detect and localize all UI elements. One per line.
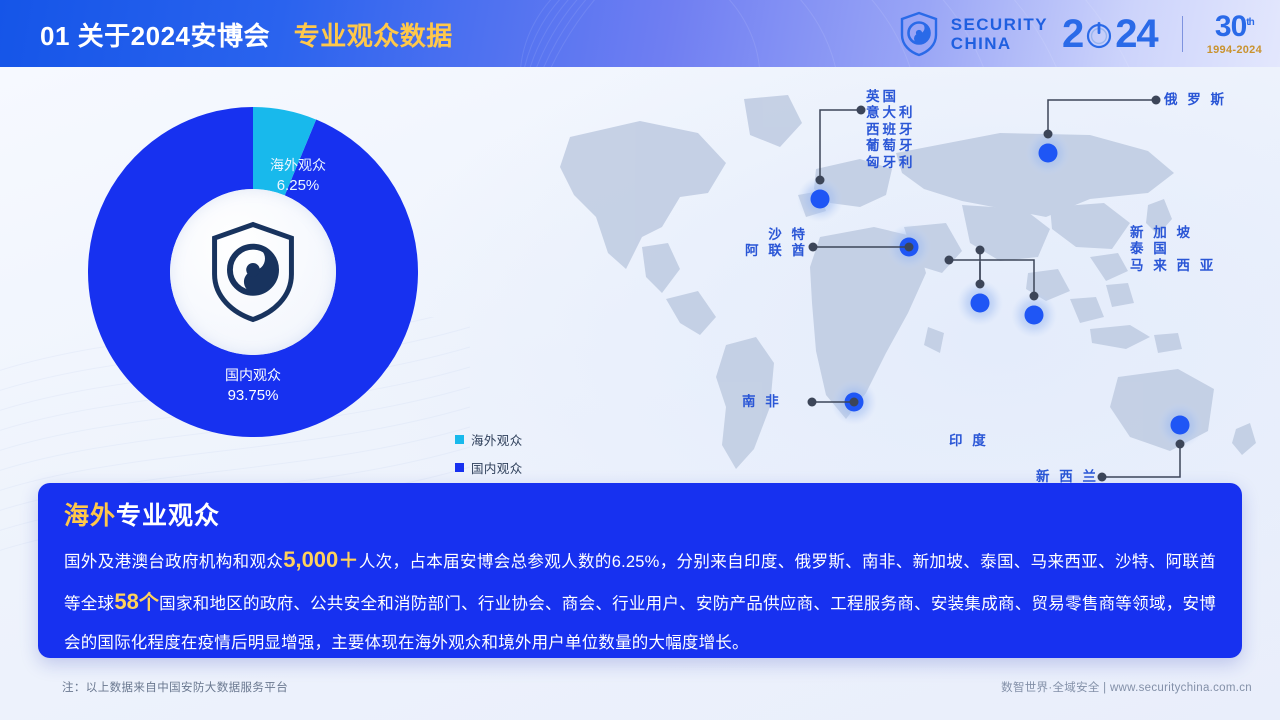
map-label-south-africa: 南 非: [742, 393, 782, 411]
map-label-sea-line-1: 新 加 坡: [1130, 225, 1216, 241]
legend-label-overseas: 海外观众: [471, 430, 523, 449]
brand-divider: [1182, 16, 1183, 52]
map-label-sea: 新 加 坡 泰 国 马 来 西 亚: [1130, 225, 1216, 274]
overseas-audience-panel: 海外专业观众 国外及港澳台政府机构和观众5,000＋人次，占本届安博会总参观人数…: [38, 483, 1242, 658]
panel-title-highlight: 海外: [64, 502, 116, 530]
panel-body-text: 国外及港澳台政府机构和观众5,000＋人次，占本届安博会总参观人数的6.25%，…: [64, 540, 1216, 663]
anniversary-sup: th: [1246, 17, 1253, 28]
donut-label-domestic-value: 93.75%: [173, 385, 333, 407]
brand-year-prefix: 2: [1062, 12, 1083, 57]
donut-center-logo: [170, 189, 336, 355]
world-map-panel: 英国 意大利 西班牙 葡萄牙 匈牙利 俄 罗 斯 沙 特 阿 联 酋 新 加 坡…: [530, 77, 1275, 547]
audience-donut-chart: 海外观众 6.25% 国内观众 93.75%: [88, 107, 418, 437]
map-label-india: 印 度: [949, 432, 989, 450]
page-title: 01 关于2024安博会 专业观众数据: [40, 16, 453, 53]
map-label-europe-line-5: 匈牙利: [866, 155, 916, 171]
donut-label-overseas: 海外观众 6.25%: [218, 155, 378, 197]
brand-line-1: SECURITY: [951, 16, 1048, 33]
brand-year: 2 24: [1062, 12, 1158, 57]
map-label-russia: 俄 罗 斯: [1164, 91, 1227, 109]
map-label-middle-east-line-1: 沙 特: [698, 227, 808, 243]
map-label-europe-line-3: 西班牙: [866, 122, 916, 138]
map-label-europe: 英国 意大利 西班牙 葡萄牙 匈牙利: [866, 89, 916, 171]
donut-label-domestic-name: 国内观众: [173, 365, 333, 385]
map-label-sea-line-2: 泰 国: [1130, 241, 1216, 257]
anniversary-badge: 30th 1994-2024: [1207, 12, 1262, 56]
anniversary-number: 30th: [1215, 12, 1254, 42]
security-shield-logo-icon: [207, 220, 299, 324]
footer-note: 注：以上数据来自中国安防大数据服务平台: [62, 679, 288, 695]
legend-swatch-domestic: [455, 463, 464, 472]
panel-stat-countries: 58: [114, 589, 138, 614]
section-index: 01: [40, 21, 70, 51]
panel-title-rest: 专业观众: [116, 502, 220, 530]
anniversary-range: 1994-2024: [1207, 45, 1262, 56]
map-label-europe-line-2: 意大利: [866, 105, 916, 121]
brand-year-suffix: 24: [1115, 12, 1158, 57]
panel-stat-countries-suffix: 个: [139, 592, 159, 614]
legend-label-domestic: 国内观众: [471, 458, 523, 477]
brand-lockup: SECURITY CHINA 2 24 30th 1994-2024: [899, 7, 1262, 61]
brand-line-2: CHINA: [951, 35, 1048, 52]
panel-body-part-3: 国家和地区的政府、公共安全和消防部门、行业协会、商会、行业用户、安防产品供应商、…: [64, 595, 1216, 652]
legend-item-domestic: 国内观众: [455, 458, 523, 477]
donut-label-overseas-name: 海外观众: [218, 155, 378, 175]
anniversary-value: 30: [1215, 10, 1246, 43]
section-title: 关于2024安博会: [78, 21, 270, 51]
map-label-middle-east-line-2: 阿 联 酋: [698, 243, 808, 259]
map-label-europe-line-1: 英国: [866, 89, 916, 105]
panel-body-part-1: 国外及港澳台政府机构和观众: [64, 553, 283, 571]
legend-swatch-overseas: [455, 435, 464, 444]
panel-stat-visitors: 5,000: [283, 547, 338, 572]
power-ring-icon: [1084, 17, 1114, 51]
map-label-sea-line-3: 马 来 西 亚: [1130, 258, 1216, 274]
donut-label-domestic: 国内观众 93.75%: [173, 365, 333, 407]
map-label-europe-line-4: 葡萄牙: [866, 138, 916, 154]
slide-root: 01 关于2024安博会 专业观众数据 SECURITY CHINA 2: [0, 0, 1280, 720]
section-subtitle: 专业观众数据: [294, 21, 453, 51]
brand-wordmark: SECURITY CHINA: [951, 16, 1048, 52]
panel-title: 海外专业观众: [64, 496, 220, 532]
security-shield-icon: [899, 11, 939, 57]
legend-item-overseas: 海外观众: [455, 430, 523, 449]
panel-stat-visitors-suffix: ＋: [338, 550, 359, 572]
slide-header: 01 关于2024安博会 专业观众数据 SECURITY CHINA 2: [0, 0, 1280, 67]
map-label-middle-east: 沙 特 阿 联 酋: [698, 227, 808, 260]
footer-brand-url: 数智世界·全域安全 | www.securitychina.com.cn: [1001, 679, 1252, 695]
chart-legend: 海外观众 国内观众: [455, 430, 523, 486]
donut-label-overseas-value: 6.25%: [218, 175, 378, 197]
